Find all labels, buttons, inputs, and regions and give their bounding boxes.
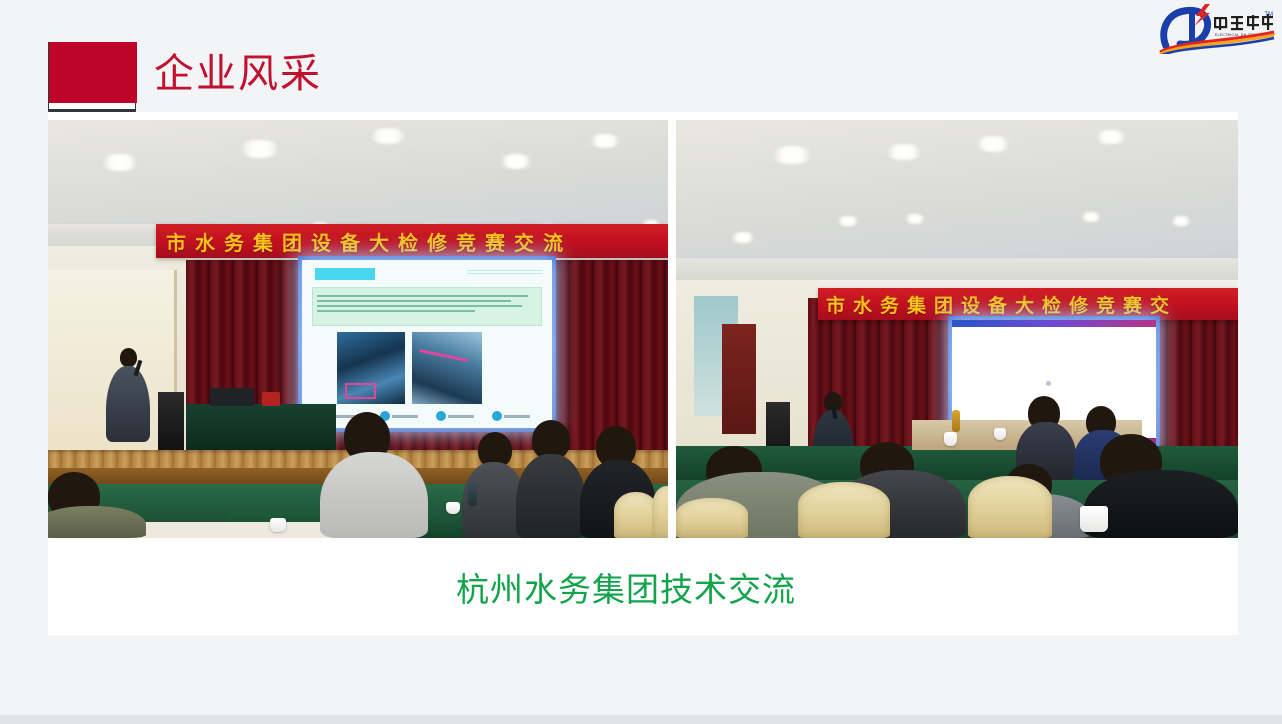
water-bottle: [952, 410, 960, 432]
projection-screen[interactable]: [302, 260, 552, 428]
brand-logo-graphic: ELECTRICAL DH TECHNOLOGY: [1158, 2, 1276, 54]
slide-photo-right: [412, 332, 482, 404]
banquet-chair: [652, 486, 668, 538]
tea-cup: [270, 518, 286, 532]
downlight: [730, 232, 756, 243]
av-table: [186, 404, 336, 450]
gallery-photo-left[interactable]: 市水务集团设备大检修竞赛交流: [48, 120, 668, 538]
page-root: 企业风采: [0, 0, 1282, 724]
ceiling: [48, 120, 668, 238]
tea-cup: [994, 428, 1006, 440]
laptop: [210, 388, 254, 406]
downlight: [498, 154, 534, 169]
downlight: [1170, 216, 1192, 226]
downlight: [884, 144, 924, 160]
photo-left-scene: 市水务集团设备大检修竞赛交流: [48, 120, 668, 538]
slide-hose-marker: [419, 349, 468, 362]
page-header: 企业风采: [48, 42, 1238, 112]
banquet-chair: [968, 476, 1052, 538]
downlight: [588, 134, 622, 148]
banquet-chair: [798, 482, 890, 538]
header-red-mark-fill: [49, 42, 137, 103]
slide-badge-icon: [492, 411, 502, 421]
downlight: [238, 140, 282, 158]
downlight: [770, 146, 814, 164]
slide-badge-icon: [436, 411, 446, 421]
downlight: [100, 154, 140, 171]
brand-trademark: TM: [1264, 12, 1273, 18]
page-bottom-band: [0, 716, 1282, 724]
photo-caption: 杭州水务集团技术交流: [456, 563, 796, 611]
slide-content: [302, 260, 552, 428]
event-banner: 市水务集团设备大检修竞赛交流: [156, 224, 668, 258]
tea-cup: [944, 432, 957, 446]
slide-highlight-box: [345, 383, 376, 399]
attendee-body: [516, 454, 586, 538]
slide-photo-left: [337, 332, 405, 404]
gallery-photo-right[interactable]: 市水务集团设备大检修竞赛交: [676, 120, 1238, 538]
red-device: [262, 392, 280, 406]
downlight: [904, 214, 926, 224]
content-card: 市水务集团设备大检修竞赛交流: [48, 112, 1238, 635]
slide-top-rule: [467, 270, 542, 275]
slide-title-bar: [315, 268, 375, 280]
screen-toolbar: [952, 320, 1156, 327]
downlight: [1080, 212, 1102, 222]
photo-gallery: 市水务集团设备大检修竞赛交流: [48, 120, 1238, 538]
ceiling: [676, 120, 1238, 270]
attendee-body: [320, 452, 428, 538]
downlight: [974, 136, 1012, 152]
banquet-chair: [676, 498, 748, 538]
attendee-body: [48, 506, 146, 538]
downlight: [836, 216, 860, 226]
presenter-head: [120, 348, 137, 367]
downlight: [1094, 130, 1128, 144]
brand-logo[interactable]: ELECTRICAL DH TECHNOLOGY TM: [1158, 2, 1276, 54]
tea-cup: [446, 502, 460, 514]
presenter-body: [106, 366, 150, 442]
tea-cup: [1080, 506, 1108, 532]
event-banner-text: 市水务集团设备大检修竞赛交流: [156, 224, 668, 258]
slide-text-block: [312, 287, 542, 326]
photo-caption-area: 杭州水务集团技术交流: [48, 538, 1238, 635]
photo-right-scene: 市水务集团设备大检修竞赛交: [676, 120, 1238, 538]
screen-cursor: [1046, 381, 1051, 386]
speaker-cabinet: [158, 392, 184, 450]
door: [722, 324, 756, 434]
header-red-mark: [48, 42, 136, 112]
water-bottle: [468, 482, 477, 506]
page-title: 企业风采: [154, 43, 322, 105]
downlight: [368, 128, 408, 144]
